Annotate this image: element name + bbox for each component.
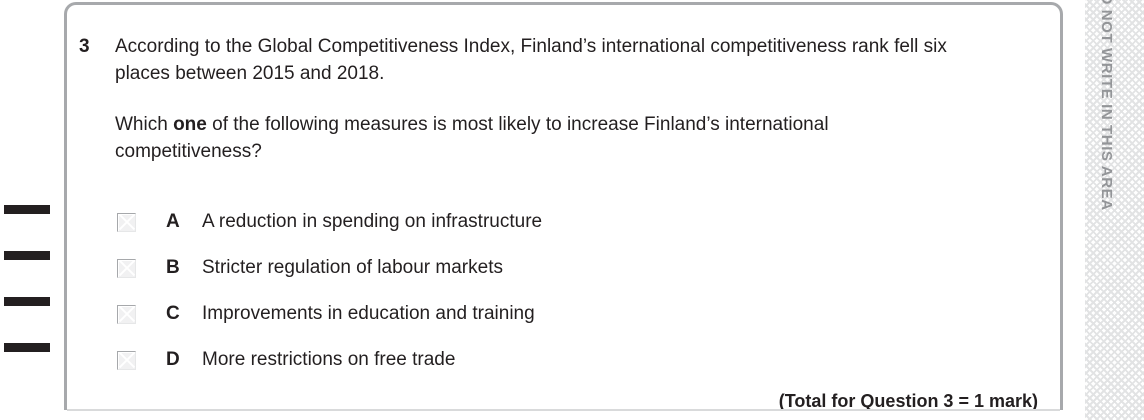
instruction-emphasis: one — [173, 114, 207, 135]
question-row: 3 According to the Global Competitivenes… — [79, 33, 1042, 383]
option-letter-c: C — [166, 303, 202, 325]
answer-checkbox-b[interactable] — [117, 259, 136, 278]
instruction-text-after: of the following measures is most likely… — [115, 114, 829, 162]
option-text-b: Stricter regulation of labour markets — [202, 257, 503, 279]
question-stem: According to the Global Competitiveness … — [115, 33, 975, 87]
registration-bar — [4, 343, 50, 352]
option-row-a[interactable]: A A reduction in spending on infrastruct… — [115, 199, 1042, 245]
answer-checkbox-d[interactable] — [117, 351, 136, 370]
do-not-write-text-wrapper: DO NOT WRITE IN THIS AREA — [1085, 0, 1144, 420]
checkbox-bevel-icon — [117, 305, 136, 324]
question-body: According to the Global Competitiveness … — [115, 33, 1042, 383]
option-text-c: Improvements in education and training — [202, 303, 535, 325]
checkbox-bevel-icon — [117, 351, 136, 370]
question-number: 3 — [79, 33, 115, 60]
option-text-d: More restrictions on free trade — [202, 349, 455, 371]
option-row-c[interactable]: C Improvements in education and training — [115, 291, 1042, 337]
registration-bar — [4, 205, 50, 214]
checkbox-bevel-icon — [117, 259, 136, 278]
option-letter-d: D — [166, 349, 202, 371]
registration-bar — [4, 251, 50, 260]
option-text-a: A reduction in spending on infrastructur… — [202, 211, 542, 233]
question-content: 3 According to the Global Competitivenes… — [79, 33, 1042, 383]
question-box: 3 According to the Global Competitivenes… — [64, 2, 1063, 410]
instruction-text-before: Which — [115, 114, 173, 135]
answer-checkbox-a[interactable] — [117, 213, 136, 232]
option-letter-b: B — [166, 257, 202, 279]
options-list: A A reduction in spending on infrastruct… — [115, 199, 1042, 383]
option-row-b[interactable]: B Stricter regulation of labour markets — [115, 245, 1042, 291]
left-margin — [0, 0, 64, 420]
option-letter-a: A — [166, 211, 202, 233]
registration-bar — [4, 297, 50, 306]
question-box-bottom-rule — [67, 409, 1060, 411]
answer-checkbox-c[interactable] — [117, 305, 136, 324]
do-not-write-strip: DO NOT WRITE IN THIS AREA — [1085, 0, 1144, 420]
checkbox-bevel-icon — [117, 213, 136, 232]
do-not-write-notice: DO NOT WRITE IN THIS AREA — [1098, 0, 1115, 211]
option-row-d[interactable]: D More restrictions on free trade — [115, 337, 1042, 383]
question-instruction: Which one of the following measures is m… — [115, 111, 975, 165]
